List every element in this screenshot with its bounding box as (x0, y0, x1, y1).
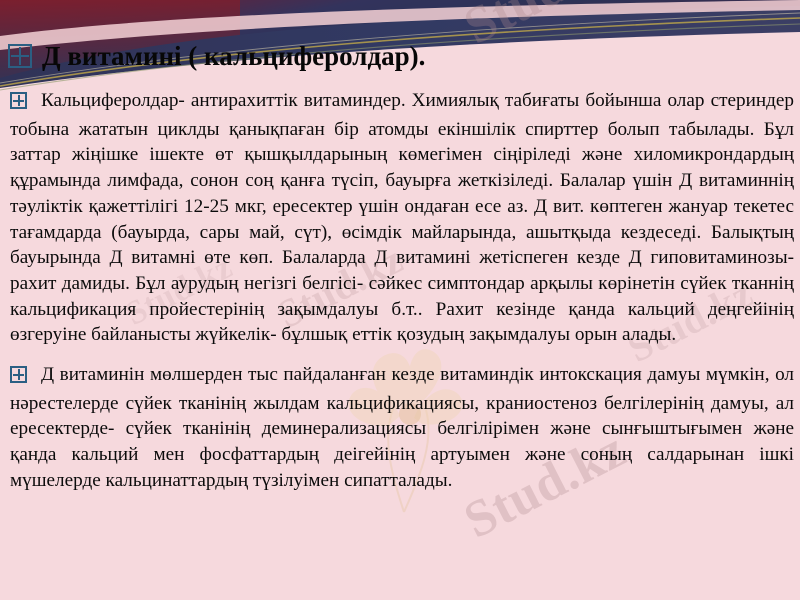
paragraph-bullet (10, 365, 27, 391)
paragraph-text: Д витаминін мөлшерден тыс пайдаланған ке… (10, 364, 794, 491)
body-paragraph: Кальциферолдар- антирахиттік витаминдер.… (0, 88, 800, 348)
square-window-bullet-icon (8, 44, 32, 68)
body-paragraph: Д витаминін мөлшерден тыс пайдаланған ке… (0, 362, 800, 494)
slide-title-row: Д витамині ( кальциферолдар). (8, 41, 425, 70)
square-window-bullet-icon (10, 366, 27, 383)
presentation-slide: Stud.kz Stud.kz Stud.kz Stud.kz Stud.kz … (0, 0, 800, 600)
slide-body: Кальциферолдар- антирахиттік витаминдер.… (0, 88, 800, 504)
paragraph-bullet (10, 91, 27, 117)
square-window-bullet-icon (10, 92, 27, 109)
page-title: Д витамині ( кальциферолдар). (42, 43, 425, 70)
paragraph-text: Кальциферолдар- антирахиттік витаминдер.… (10, 90, 794, 345)
